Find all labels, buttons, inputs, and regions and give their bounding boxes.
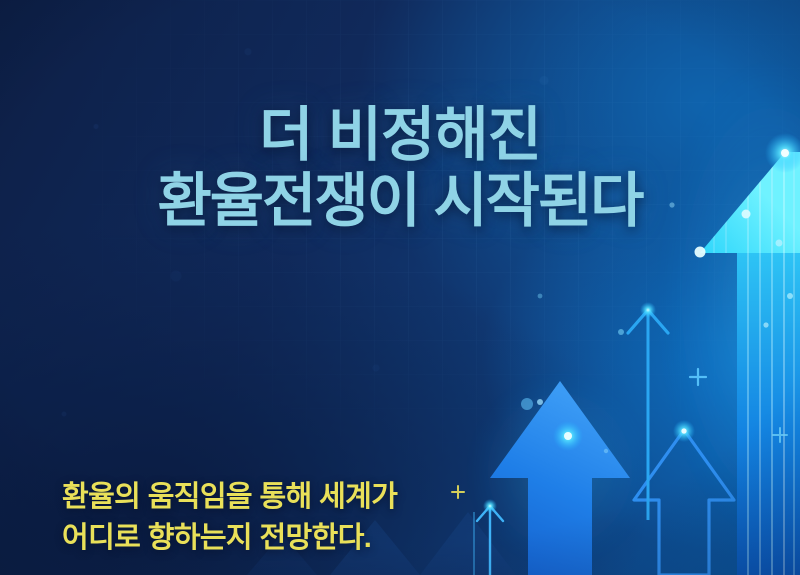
promo-banner: 더 비정해진 환율전쟁이 시작된다 환율의 움직임을 통해 세계가 어디로 향하… (0, 0, 800, 575)
subcopy-line-1: 환율의 움직임을 통해 세계가 (62, 481, 397, 513)
headline-line-1: 더 비정해진 (259, 102, 541, 168)
page-title: 더 비정해진 환율전쟁이 시작된다 (0, 102, 800, 234)
subcopy-line-2: 어디로 향하는지 전망한다. (62, 518, 397, 559)
headline-line-2: 환율전쟁이 시작된다 (0, 168, 800, 234)
subcopy: 환율의 움직임을 통해 세계가 어디로 향하는지 전망한다. (62, 477, 397, 559)
